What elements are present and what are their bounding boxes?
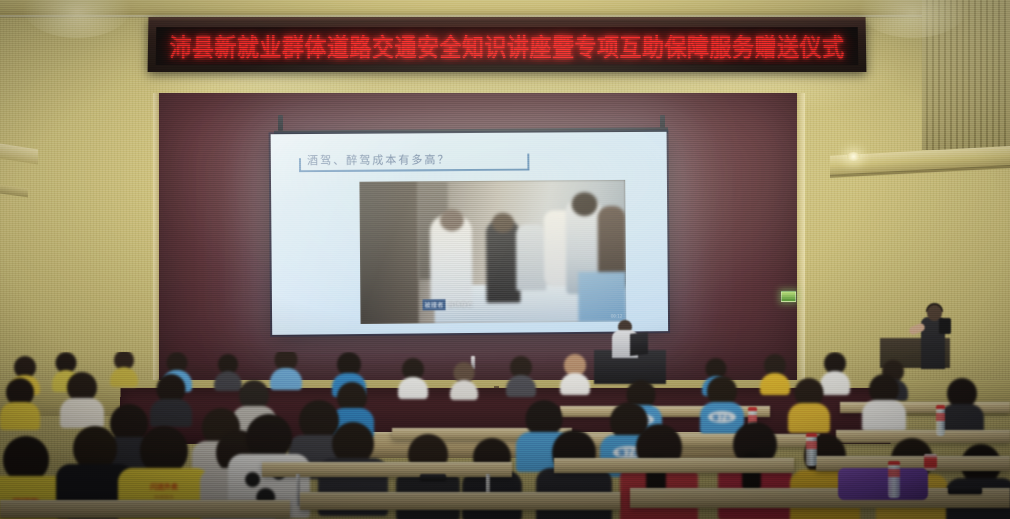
- screenshot-root: 沛县新就业群体道路交通安全知识讲座暨专项互助保障服务赠送仪式 酒驾、醉驾成本有多…: [0, 0, 1010, 519]
- wall-vignette: [0, 0, 1010, 519]
